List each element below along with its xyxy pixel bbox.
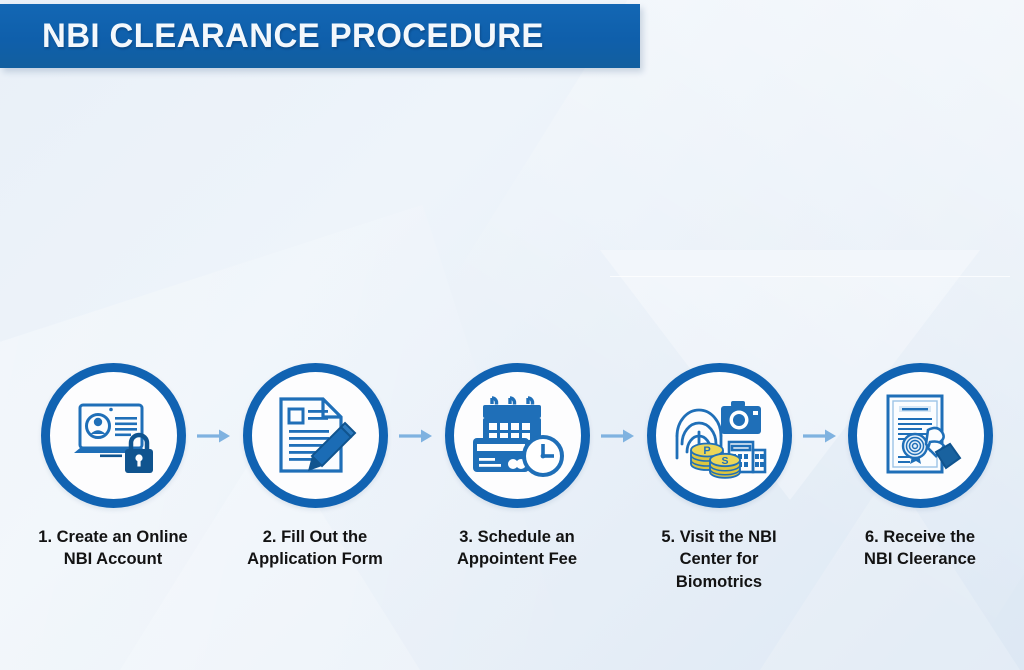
svg-text:S: S [721,455,728,467]
fingerprint-camera-coins-building-icon: P S [669,392,769,480]
step-5-circle[interactable] [848,363,993,508]
step-1-circle[interactable] [41,363,186,508]
step-1-label-line-1: 1. Create an Online [24,526,202,548]
process-flow: 1. Create an Online NBI Account [0,355,1024,625]
step-4-label-line-1: 5. Visit the NBI [630,526,808,548]
page-title: NBI CLEARANCE PROCEDURE [42,17,544,56]
step-4-circle[interactable]: P S [647,363,792,508]
step-4[interactable]: P S 5. Visit the NBI Center for [618,355,820,593]
step-5-label: 6. Receive the NBI Cleerance [819,526,1021,571]
step-1[interactable]: 1. Create an Online NBI Account [12,355,214,571]
step-2-label: 2. Fill Out the Application Form [214,526,416,571]
step-1-label-line-2: NBI Account [24,548,202,570]
step-3-circle[interactable] [445,363,590,508]
certificate-hand-icon [874,390,966,482]
step-3-label-line-1: 3. Schedule an [428,526,606,548]
step-3[interactable]: 3. Schedule an Appointent Fee [416,355,618,571]
document-pencil-icon [271,393,359,479]
step-2-label-line-1: 2. Fill Out the [226,526,404,548]
infographic-canvas: NBI CLEARANCE PROCEDURE [0,0,1024,670]
step-4-label-line-3: Biomotrics [630,571,808,593]
step-2-label-line-2: Application Form [226,548,404,570]
title-banner: NBI CLEARANCE PROCEDURE [0,4,640,68]
step-5-label-line-1: 6. Receive the [831,526,1009,548]
step-4-label-line-2: Center for [630,548,808,570]
step-2-circle[interactable] [243,363,388,508]
step-5-label-line-2: NBI Cleerance [831,548,1009,570]
calendar-card-clock-icon [469,394,565,478]
step-3-label: 3. Schedule an Appointent Fee [416,526,618,571]
svg-text:P: P [703,445,710,457]
step-3-label-line-2: Appointent Fee [428,548,606,570]
step-1-label: 1. Create an Online NBI Account [12,526,214,571]
step-4-label: 5. Visit the NBI Center for Biomotrics [618,526,820,593]
step-5[interactable]: 6. Receive the NBI Cleerance [819,355,1021,571]
background-line-1 [610,276,1010,277]
laptop-account-lock-icon [67,395,159,477]
step-2[interactable]: 2. Fill Out the Application Form [214,355,416,571]
